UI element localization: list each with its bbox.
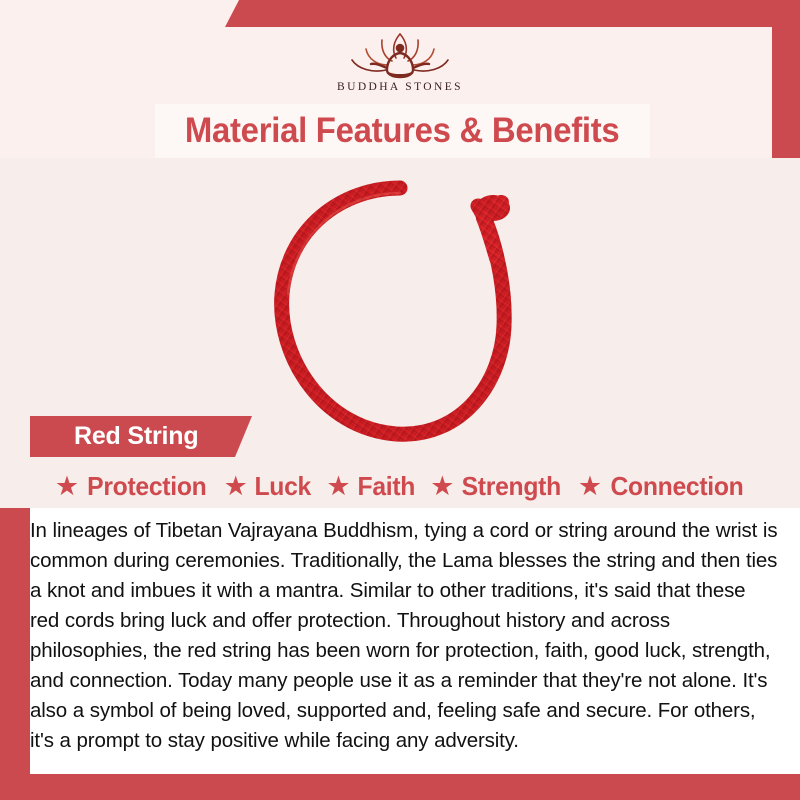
star-icon: ★ — [326, 473, 350, 500]
star-icon: ★ — [430, 473, 454, 500]
star-icon: ★ — [55, 473, 79, 500]
brand-name: BUDDHA STONES — [337, 81, 463, 93]
benefit-item-protection: ★ Protection — [49, 471, 216, 502]
decorative-bottom-red-band — [0, 774, 800, 800]
description-card: In lineages of Tibetan Vajrayana Buddhis… — [30, 508, 800, 774]
benefits-row: ★ Protection ★ Luck ★ Faith ★ Strength ★… — [30, 465, 772, 507]
star-icon: ★ — [578, 473, 602, 500]
description-paragraph: In lineages of Tibetan Vajrayana Buddhis… — [30, 516, 778, 756]
star-icon: ★ — [224, 473, 248, 500]
benefit-label: Connection — [611, 471, 744, 502]
lotus-meditation-figure-icon — [330, 27, 470, 83]
product-infographic: BUDDHA STONES Material Features & Benefi… — [0, 0, 800, 800]
benefit-item-luck: ★ Luck — [218, 471, 319, 502]
brand-logo: BUDDHA STONES — [0, 27, 800, 100]
product-name-label: Red String — [74, 422, 198, 451]
benefit-label: Faith — [357, 471, 415, 502]
title-banner: Material Features & Benefits — [155, 104, 650, 158]
benefit-item-faith: ★ Faith — [320, 471, 422, 502]
benefit-item-connection: ★ Connection — [572, 471, 753, 502]
page-title: Material Features & Benefits — [185, 111, 620, 151]
benefit-item-strength: ★ Strength — [424, 471, 570, 502]
decorative-top-red-band — [225, 0, 800, 27]
benefit-label: Protection — [87, 471, 206, 502]
benefit-label: Luck — [254, 471, 311, 502]
red-braided-string-bracelet-photo — [250, 166, 550, 466]
benefit-label: Strength — [462, 471, 561, 502]
product-name-banner: Red String — [30, 416, 252, 457]
